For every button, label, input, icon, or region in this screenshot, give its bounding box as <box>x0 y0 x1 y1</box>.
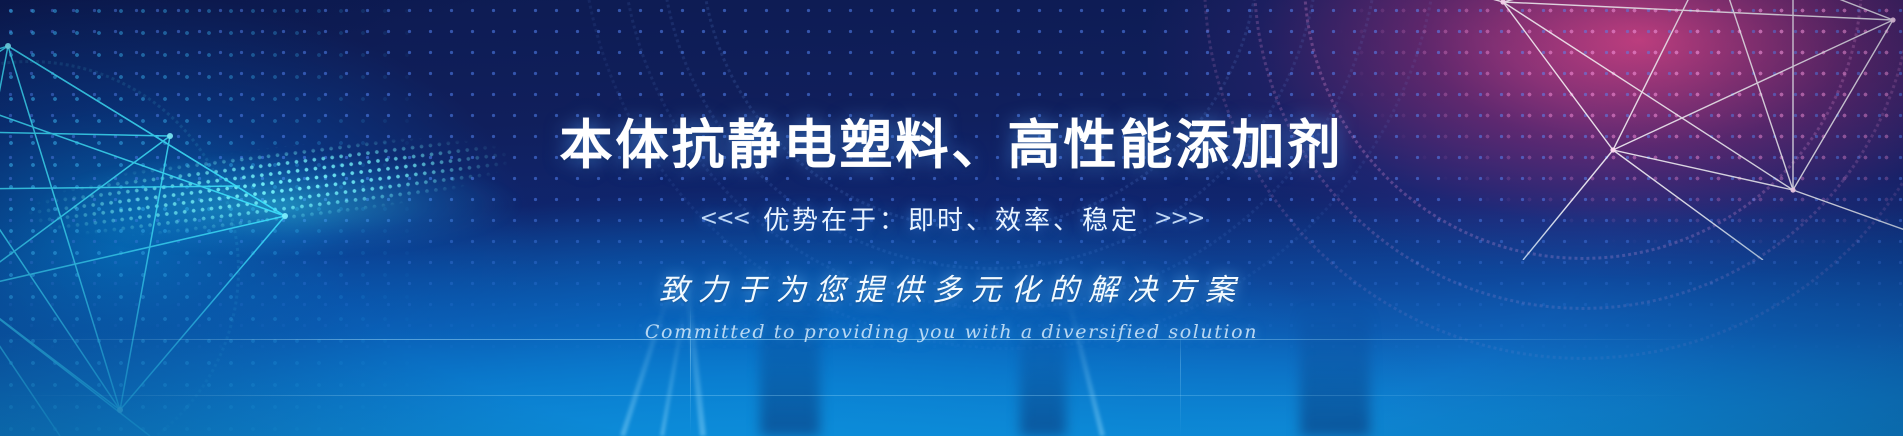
banner-slogan-en: Committed to providing you with a divers… <box>645 321 1258 343</box>
chevron-left-icon: <<< <box>700 206 749 231</box>
banner-text-block: 本体抗静电塑料、高性能添加剂 <<< 优势在于：即时、效率、稳定 >>> 致力于… <box>0 0 1903 436</box>
banner-subtitle-text: 优势在于：即时、效率、稳定 <box>763 200 1140 237</box>
banner-subtitle: <<< 优势在于：即时、效率、稳定 >>> <box>700 200 1204 237</box>
banner-slogan-cn: 致力于为您提供多元化的解决方案 <box>659 265 1244 309</box>
chevron-right-icon: >>> <box>1154 206 1203 231</box>
hero-banner: 本体抗静电塑料、高性能添加剂 <<< 优势在于：即时、效率、稳定 >>> 致力于… <box>0 0 1903 436</box>
page-title: 本体抗静电塑料、高性能添加剂 <box>560 118 1344 174</box>
